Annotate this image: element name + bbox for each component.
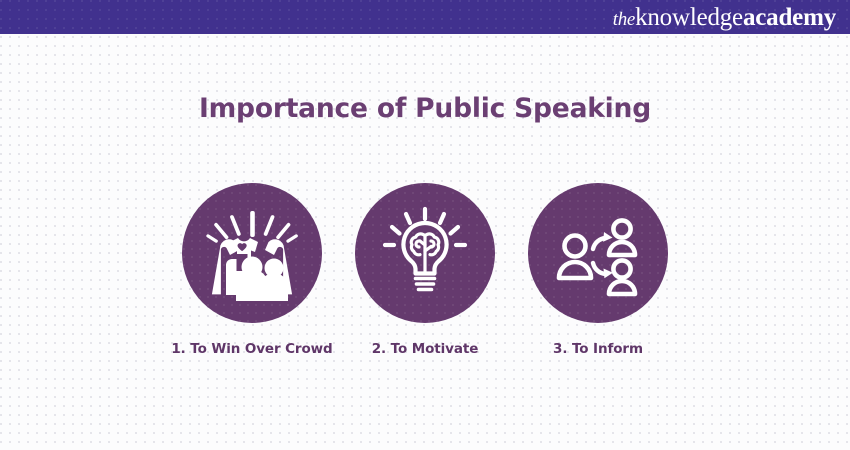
- item-label-3: 3. To Inform: [553, 341, 643, 357]
- crowd-cheering-icon: [200, 201, 304, 305]
- page-title: Importance of Public Speaking: [0, 93, 850, 124]
- item-label-1: 1. To Win Over Crowd: [171, 341, 332, 357]
- icon-circle-1: [182, 183, 322, 323]
- item-win-over-crowd: 1. To Win Over Crowd: [182, 183, 322, 357]
- the-knowledge-academy-logo[interactable]: theknowledgeacademy: [613, 5, 836, 30]
- people-sharing-arrows-icon: [546, 201, 650, 305]
- items-row: 1. To Win Over Crowd: [0, 183, 850, 357]
- item-label-2: 2. To Motivate: [372, 341, 479, 357]
- header-bar: theknowledgeacademy: [0, 0, 850, 34]
- infographic-canvas: theknowledgeacademy Importance of Public…: [0, 0, 850, 450]
- icon-circle-2: [355, 183, 495, 323]
- item-motivate: 2. To Motivate: [355, 183, 495, 357]
- lightbulb-brain-icon: [373, 201, 477, 305]
- item-inform: 3. To Inform: [528, 183, 668, 357]
- icon-circle-3: [528, 183, 668, 323]
- logo-knowledge-text: knowledge: [635, 5, 743, 30]
- logo-the-text: the: [613, 10, 635, 29]
- logo-academy-text: academy: [743, 5, 836, 30]
